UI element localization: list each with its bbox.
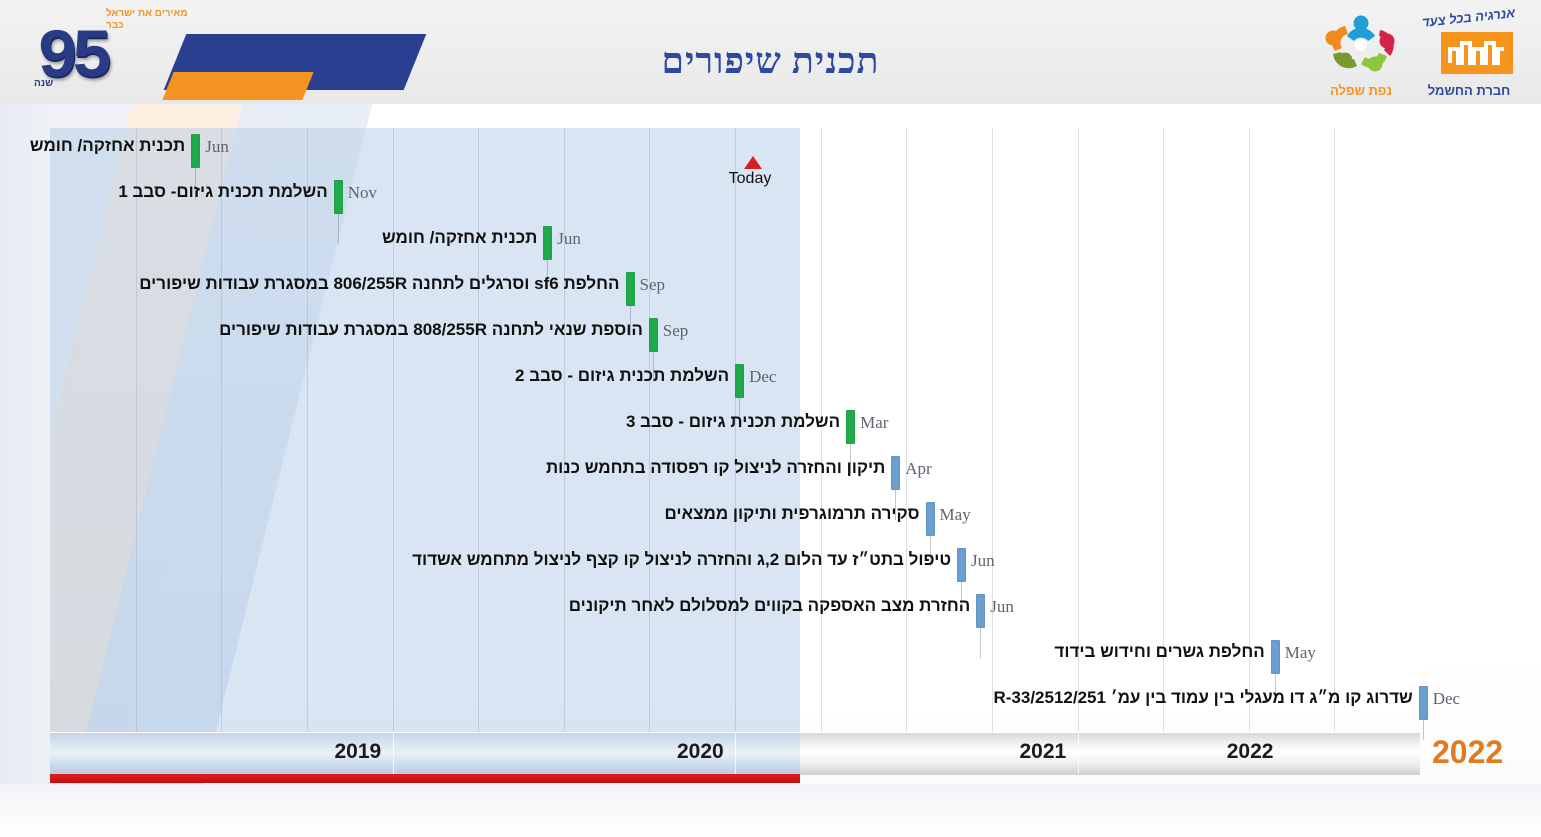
milestone-month-label: Apr — [905, 459, 931, 479]
slide-body: Junתכנית אחזקה/ חומשNovהשלמת תכנית גיזום… — [0, 104, 1541, 837]
milestone-month-label: Jun — [990, 597, 1014, 617]
milestone-title: סקירה תרמוגרפית ותיקון ממצאים — [665, 504, 920, 524]
milestone-title: החלפת גשרים וחידוש בידוד — [1054, 642, 1264, 662]
milestone-title: החזרת מצב האספקה בקווים למסלולם לאחר תיק… — [569, 596, 970, 616]
milestone-row[interactable]: Sepהוספת שנאי לתחנה 808/255R במסגרת עבוד… — [50, 312, 1420, 358]
milestone-title: השלמת תכנית גיזום - סבב 3 — [626, 412, 840, 432]
milestone-month-label: Dec — [749, 367, 776, 387]
milestone-month-label: Nov — [348, 183, 377, 203]
nefat-shfela-caption: נפת שפלה — [1313, 83, 1409, 98]
milestone-marker[interactable] — [191, 134, 200, 168]
axis-divider — [735, 732, 736, 774]
milestone-title: תכנית אחזקה/ חומש — [30, 136, 185, 156]
anniversary-tagline: מאירים את ישראל כבר — [106, 8, 192, 32]
iec-caption: חברת החשמל — [1417, 83, 1521, 98]
nefat-shfela-logo: נפת שפלה — [1313, 12, 1409, 100]
axis-future-segment — [800, 732, 1420, 775]
milestone-marker[interactable] — [846, 410, 855, 444]
milestone-month-label: Sep — [640, 275, 666, 295]
milestone-title: שדרוג קו מ״ג דו מעגלי בין עמוד בין עמ׳ R… — [993, 688, 1412, 708]
milestone-row[interactable]: Decהשלמת תכנית גיזום - סבב 2 — [50, 358, 1420, 404]
axis-progress-bar — [50, 774, 800, 783]
bottom-fade — [0, 784, 1541, 837]
today-label: Today — [718, 170, 782, 188]
milestone-stem — [1423, 720, 1424, 740]
israel-electric-corp-logo: אנרגיה בכל צעד חברת החשמל — [1417, 10, 1521, 100]
milestone-marker[interactable] — [1271, 640, 1280, 674]
header-logos: נפת שפלה אנרגיה בכל צעד חברת החשמל — [1297, 6, 1527, 100]
milestone-marker[interactable] — [1419, 686, 1428, 720]
milestone-title: תיקון והחזרה לניצול קו רפסודה בתחמש כנות — [546, 458, 885, 478]
axis-divider — [1078, 732, 1079, 774]
milestone-row[interactable]: Marהשלמת תכנית גיזום - סבב 3 — [50, 404, 1420, 450]
milestone-row[interactable]: Junתכנית אחזקה/ חומש — [50, 220, 1420, 266]
slide-header: מאירים את ישראל כבר 95 שנה תכנית שיפורים — [0, 0, 1541, 105]
milestone-month-label: May — [1285, 643, 1316, 663]
milestone-row[interactable]: Mayהחלפת גשרים וחידוש בידוד — [50, 634, 1420, 680]
zigzag-icon — [1448, 41, 1506, 65]
milestone-marker[interactable] — [626, 272, 635, 306]
axis-year-2020: 2020 — [677, 740, 724, 764]
today-marker-arrow — [744, 156, 762, 169]
timeline-axis[interactable]: 2019202020212022 — [50, 732, 1420, 778]
people-circle-icon — [1323, 14, 1399, 76]
milestone-title: השלמת תכנית גיזום - סבב 2 — [515, 366, 729, 386]
milestone-marker[interactable] — [649, 318, 658, 352]
milestone-title: החלפת sf6 וסרגלים לתחנה 806/255R במסגרת … — [139, 274, 619, 294]
milestone-title: טיפול בתט״ז עד הלום 2,ג והחזרה לניצול קו… — [412, 550, 951, 570]
milestone-row[interactable]: Aprתיקון והחזרה לניצול קו רפסודה בתחמש כ… — [50, 450, 1420, 496]
milestone-row[interactable]: Decשדרוג קו מ״ג דו מעגלי בין עמוד בין עמ… — [50, 680, 1420, 726]
milestone-month-label: May — [940, 505, 971, 525]
milestone-title: השלמת תכנית גיזום- סבב 1 — [118, 182, 327, 202]
milestone-month-label: Sep — [663, 321, 689, 341]
milestone-marker[interactable] — [334, 180, 343, 214]
milestone-row[interactable]: Sepהחלפת sf6 וסרגלים לתחנה 806/255R במסג… — [50, 266, 1420, 312]
milestone-month-label: Jun — [205, 137, 229, 157]
timeline-plot-area: Junתכנית אחזקה/ חומשNovהשלמת תכנית גיזום… — [50, 128, 1420, 732]
milestone-title: תכנית אחזקה/ חומש — [382, 228, 537, 248]
milestone-marker[interactable] — [891, 456, 900, 490]
milestone-marker[interactable] — [543, 226, 552, 260]
milestone-row[interactable]: Junהחזרת מצב האספקה בקווים למסלולם לאחר … — [50, 588, 1420, 634]
left-edge-shade — [0, 104, 50, 837]
axis-year-2022: 2022 — [1227, 740, 1274, 764]
milestone-month-label: Jun — [557, 229, 581, 249]
milestone-marker[interactable] — [735, 364, 744, 398]
milestone-row[interactable]: Junתכנית אחזקה/ חומש — [50, 128, 1420, 174]
milestone-month-label: Dec — [1433, 689, 1460, 709]
milestone-title: הוספת שנאי לתחנה 808/255R במסגרת עבודות … — [219, 320, 643, 340]
milestone-month-label: Mar — [860, 413, 888, 433]
milestone-marker[interactable] — [976, 594, 985, 628]
axis-divider — [393, 732, 394, 774]
axis-year-2021: 2021 — [1020, 740, 1067, 764]
milestone-row[interactable]: Mayסקירה תרמוגרפית ותיקון ממצאים — [50, 496, 1420, 542]
milestone-row[interactable]: Junטיפול בתט״ז עד הלום 2,ג והחזרה לניצול… — [50, 542, 1420, 588]
milestone-month-label: Jun — [971, 551, 995, 571]
slide-root: מאירים את ישראל כבר 95 שנה תכנית שיפורים — [0, 0, 1541, 837]
milestone-marker[interactable] — [957, 548, 966, 582]
milestone-marker[interactable] — [926, 502, 935, 536]
iec-orange-mark — [1441, 32, 1513, 74]
end-year-badge: 2022 — [1432, 734, 1503, 771]
axis-year-2019: 2019 — [335, 740, 382, 764]
